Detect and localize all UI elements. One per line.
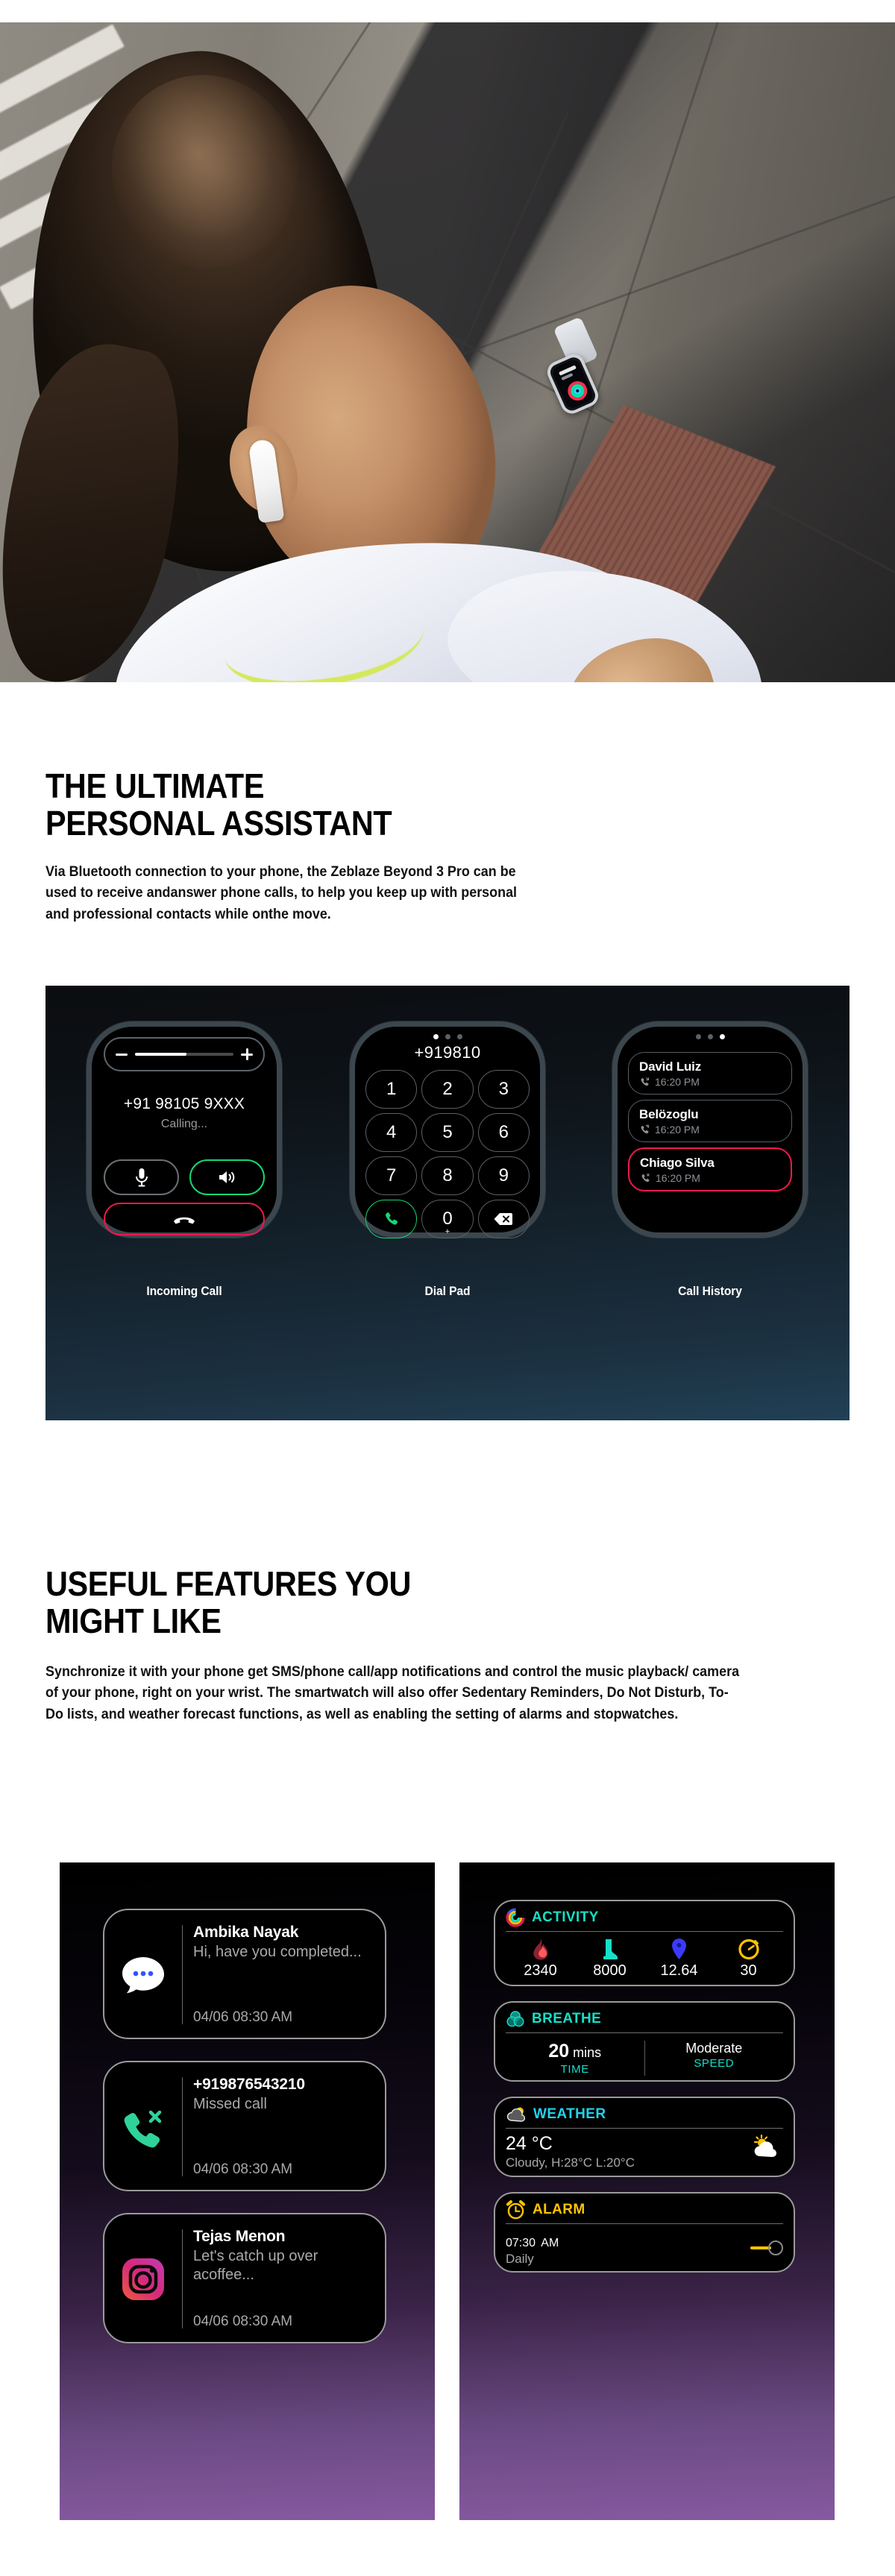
call-section-heading: THE ULTIMATE PERSONAL ASSISTANT: [45, 768, 851, 842]
key-8[interactable]: 8: [421, 1156, 473, 1195]
page-dot-active: [433, 1034, 439, 1039]
volume-up-icon[interactable]: [241, 1048, 253, 1060]
caption-incoming-call: Incoming Call: [94, 1284, 274, 1299]
incoming-call-screen: +91 98105 9XXX Calling...: [87, 1021, 282, 1238]
contact-name: Chiago Silva: [640, 1156, 780, 1171]
call-status: Calling...: [92, 1118, 277, 1131]
metric-steps: 8000: [575, 1938, 644, 1980]
weather-card[interactable]: WEATHER 24 °C Cloudy, H:28°C L:20°C: [494, 2097, 795, 2177]
keypad: 1 2 3 4 5 6 7 8 9 0 +: [365, 1070, 530, 1238]
notification-message: Missed call: [193, 2095, 373, 2114]
features-title-line2: MIGHT LIKE: [45, 1603, 770, 1640]
breathe-title: BREATHE: [532, 2011, 601, 2027]
divider: [182, 2229, 183, 2328]
boot-icon: [600, 1938, 620, 1960]
page-title-line2: PERSONAL ASSISTANT: [45, 805, 770, 843]
volume-down-icon[interactable]: [116, 1054, 128, 1056]
notification-sender: Ambika Nayak: [193, 1924, 373, 1942]
breathe-time-value: 20: [548, 2041, 569, 2062]
notification-card[interactable]: Tejas Menon Let's catch up over acoffee.…: [103, 2213, 386, 2343]
breathe-time-label: TIME: [561, 2063, 589, 2076]
hero-image: [0, 22, 895, 682]
breathe-card[interactable]: BREATHE 20 mins TIME Moderate SPEED: [494, 2001, 795, 2082]
breathe-time-unit: mins: [573, 2045, 601, 2060]
key-3[interactable]: 3: [478, 1070, 530, 1109]
contact-name: David Luiz: [639, 1059, 781, 1074]
key-0-label: 0: [442, 1209, 452, 1229]
mute-button[interactable]: [104, 1159, 179, 1195]
call-button[interactable]: [365, 1200, 417, 1238]
features-title-line1: USEFUL FEATURES YOU: [45, 1566, 770, 1603]
divider: [506, 2032, 783, 2033]
alarm-toggle[interactable]: [750, 2240, 783, 2255]
key-0-alt-label: +: [445, 1227, 450, 1236]
notifications-panel: Ambika Nayak Hi, have you completed... 0…: [60, 1862, 435, 2520]
call-section-paragraph: Via Bluetooth connection to your phone, …: [45, 861, 526, 925]
backspace-icon: [493, 1212, 514, 1226]
features-section-paragraph: Synchronize it with your phone get SMS/p…: [45, 1661, 745, 1725]
divider: [506, 2128, 783, 2129]
page-dot: [708, 1034, 713, 1039]
alarm-card[interactable]: ALARM 07:30 AM Daily: [494, 2192, 795, 2273]
page-dot: [445, 1034, 450, 1039]
alarm-title: ALARM: [533, 2202, 585, 2218]
key-9[interactable]: 9: [478, 1156, 530, 1195]
contact-name: Belözoglu: [639, 1107, 781, 1122]
alarm-time: 07:30: [506, 2237, 536, 2249]
features-section-heading: USEFUL FEATURES YOU MIGHT LIKE: [45, 1566, 851, 1640]
notification-card[interactable]: Ambika Nayak Hi, have you completed... 0…: [103, 1909, 386, 2039]
calories-value: 2340: [524, 1962, 557, 1980]
divider: [506, 2223, 783, 2224]
weather-detail: Cloudy, H:28°C L:20°C: [506, 2155, 635, 2170]
activity-card[interactable]: ACTIVITY 2340 8000: [494, 1900, 795, 1986]
metric-active-minutes: 30: [714, 1938, 783, 1980]
features-section-body: Synchronize it with your phone get SMS/p…: [45, 1661, 806, 1725]
alarm-clock-icon: [506, 2200, 526, 2220]
page-indicator: [618, 1034, 803, 1039]
notification-timestamp: 04/06 08:30 AM: [193, 2161, 373, 2178]
page-indicator: [355, 1034, 540, 1039]
missed-call-icon: [104, 2076, 182, 2178]
key-0[interactable]: 0 +: [421, 1200, 473, 1238]
weather-title: WEATHER: [533, 2106, 606, 2123]
outgoing-call-icon: [639, 1124, 650, 1136]
notification-sender: +919876543210: [193, 2076, 373, 2094]
stopwatch-icon: [738, 1938, 759, 1960]
key-5[interactable]: 5: [421, 1113, 473, 1152]
caption-dial-pad: Dial Pad: [357, 1284, 537, 1299]
active-minutes-value: 30: [740, 1962, 756, 1980]
page-title-line1: THE ULTIMATE: [45, 768, 770, 805]
phone-icon: [383, 1210, 401, 1228]
caller-number: +91 98105 9XXX: [92, 1095, 277, 1113]
call-time-label: 16:20 PM: [655, 1124, 700, 1136]
call-history-row[interactable]: David Luiz 16:20 PM: [628, 1052, 792, 1095]
notification-card[interactable]: +919876543210 Missed call 04/06 08:30 AM: [103, 2061, 386, 2191]
key-4[interactable]: 4: [365, 1113, 417, 1152]
dial-pad-screen: +919810 1 2 3 4 5 6 7 8 9 0 +: [350, 1021, 545, 1238]
volume-track[interactable]: [135, 1053, 233, 1056]
end-call-button[interactable]: [104, 1203, 265, 1235]
hangup-icon: [172, 1213, 197, 1225]
caption-call-history: Call History: [620, 1284, 800, 1299]
key-6[interactable]: 6: [478, 1113, 530, 1152]
metric-calories: 2340: [506, 1938, 575, 1980]
volume-slider[interactable]: [104, 1037, 265, 1071]
microphone-icon: [134, 1167, 150, 1188]
breathe-speed: Moderate SPEED: [645, 2041, 784, 2076]
toggle-knob: [768, 2240, 783, 2255]
key-1[interactable]: 1: [365, 1070, 417, 1109]
notification-sender: Tejas Menon: [193, 2228, 373, 2246]
call-time: 16:20 PM: [639, 1124, 781, 1136]
dialed-number: +919810: [355, 1043, 540, 1062]
call-history-row[interactable]: Belözoglu 16:20 PM: [628, 1100, 792, 1142]
call-features-panel: +91 98105 9XXX Calling...: [45, 986, 850, 1420]
divider: [182, 2077, 183, 2176]
call-history-screen: David Luiz 16:20 PM Belözoglu 16:20 PM C…: [612, 1021, 808, 1238]
page-dot-active: [720, 1034, 725, 1039]
feature-cards-panel: ACTIVITY 2340 8000: [459, 1862, 835, 2520]
key-7[interactable]: 7: [365, 1156, 417, 1195]
metric-distance: 12.64: [644, 1938, 714, 1980]
weather-temperature: 24 °C: [506, 2133, 635, 2155]
activity-rings-icon: [506, 1908, 525, 1927]
partly-cloudy-icon: [749, 2133, 783, 2158]
key-2[interactable]: 2: [421, 1070, 473, 1109]
notification-timestamp: 04/06 08:30 AM: [193, 2314, 373, 2330]
speaker-button[interactable]: [189, 1159, 265, 1195]
notification-message: Hi, have you completed...: [193, 1943, 373, 1962]
breathe-speed-label: SPEED: [694, 2057, 734, 2070]
steps-value: 8000: [593, 1962, 626, 1980]
notification-message: Let's catch up over acoffee...: [193, 2247, 373, 2284]
divider: [506, 1931, 783, 1932]
breathe-speed-value: Moderate: [685, 2041, 742, 2056]
call-time-label: 16:20 PM: [655, 1076, 700, 1088]
flame-icon: [530, 1938, 550, 1960]
cloud-sun-icon: [506, 2106, 527, 2123]
divider: [182, 1925, 183, 2024]
location-pin-icon: [671, 1938, 688, 1960]
backspace-button[interactable]: [478, 1200, 530, 1238]
alarm-repeat: Daily: [506, 2252, 559, 2267]
call-time: 16:20 PM: [639, 1076, 781, 1088]
call-section-body: Via Bluetooth connection to your phone, …: [45, 861, 568, 925]
page-dot: [696, 1034, 701, 1039]
missed-call-icon: [640, 1173, 651, 1184]
activity-title: ACTIVITY: [532, 1909, 599, 1926]
call-time-label: 16:20 PM: [656, 1172, 700, 1184]
breathe-time: 20 mins TIME: [506, 2041, 645, 2076]
breathe-flower-icon: [506, 2009, 525, 2029]
message-bubble-icon: [104, 1924, 182, 2026]
instagram-icon: [104, 2228, 182, 2330]
incoming-call-icon: [639, 1077, 650, 1088]
volume-fill: [135, 1053, 186, 1056]
call-time: 16:20 PM: [640, 1172, 780, 1184]
alarm-meridiem: AM: [541, 2237, 559, 2249]
call-history-row-missed[interactable]: Chiago Silva 16:20 PM: [628, 1147, 792, 1191]
notification-timestamp: 04/06 08:30 AM: [193, 2009, 373, 2026]
page-dot: [457, 1034, 462, 1039]
speaker-icon: [217, 1168, 238, 1186]
distance-value: 12.64: [660, 1962, 697, 1980]
